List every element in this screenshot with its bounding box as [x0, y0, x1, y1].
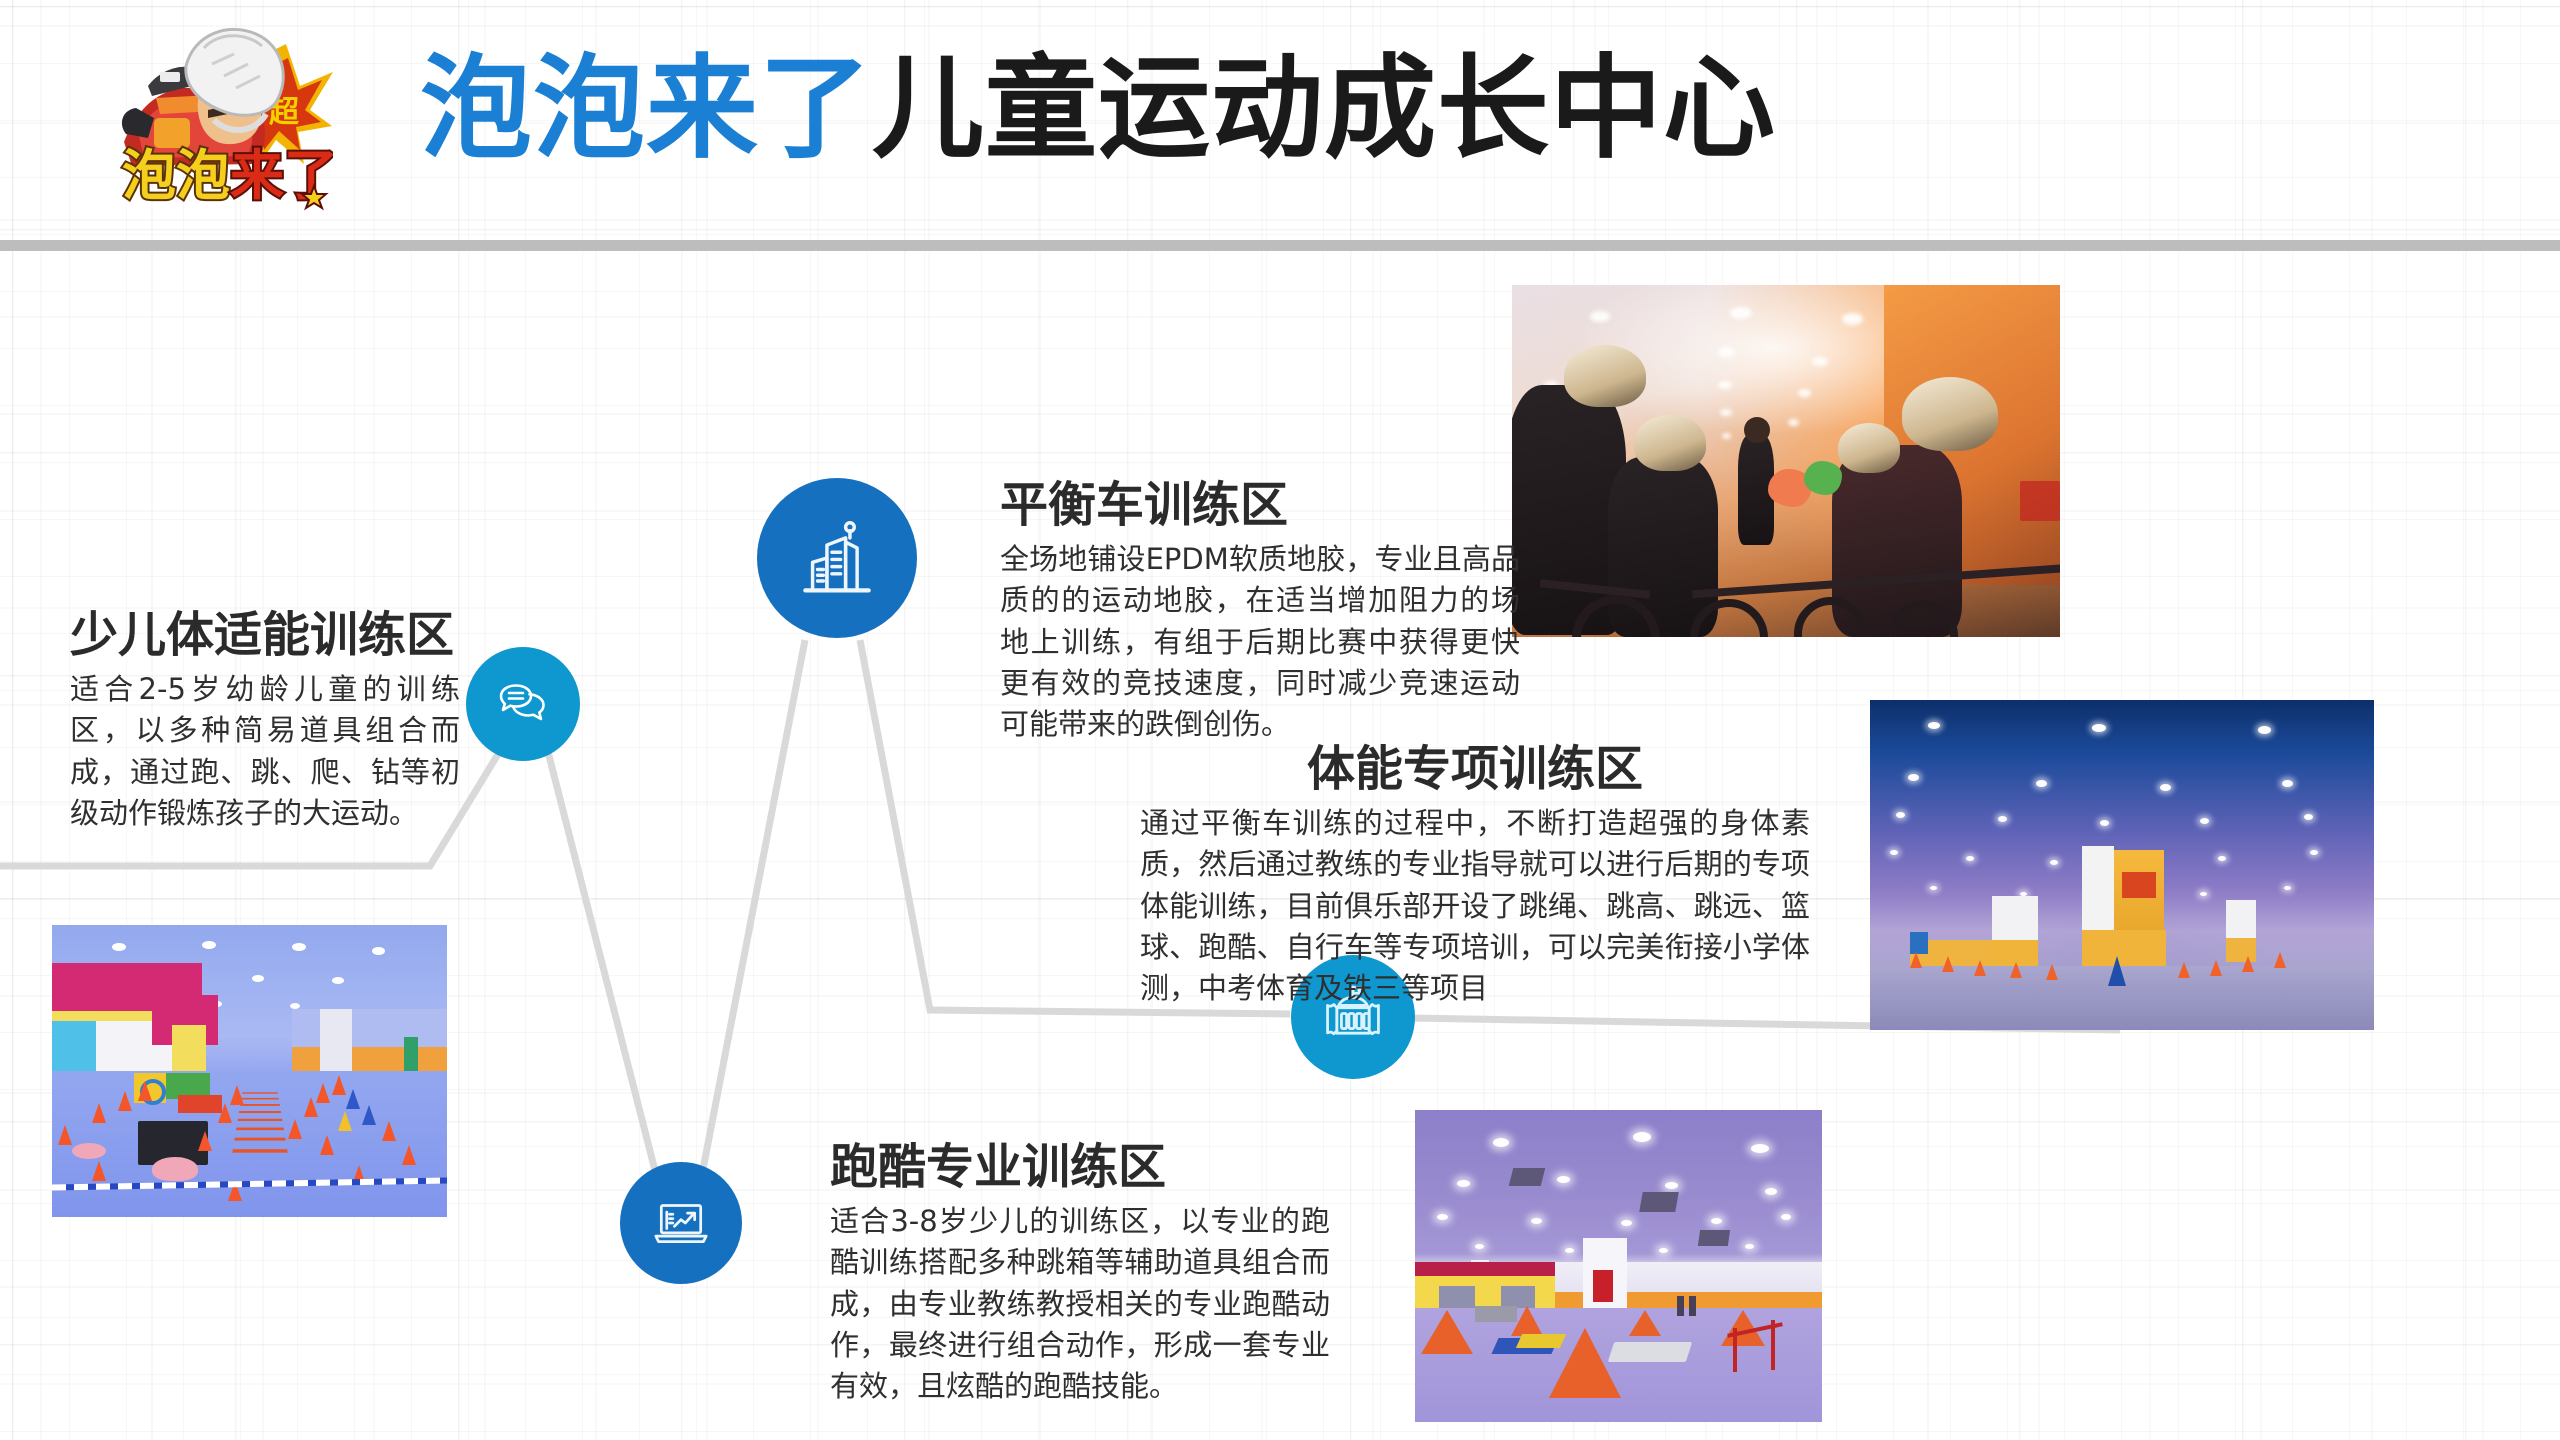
section-title-fitness: 体能专项训练区	[1140, 742, 1810, 797]
laptop-chart-node[interactable]	[620, 1162, 742, 1284]
parkour-hall-photo	[1415, 1110, 1822, 1422]
section-parkour: 跑酷专业训练区 适合3-8岁少儿的训练区，以专业的跑酷训练搭配多种跳箱等辅助道具…	[830, 1140, 1330, 1407]
section-body-fitness: 通过平衡车训练的过程中，不断打造超强的身体素质，然后通过教练的专业指导就可以进行…	[1140, 803, 1810, 1009]
office-building-icon	[791, 512, 883, 604]
svg-text:泡泡: 泡泡	[122, 144, 230, 207]
section-kids-fitness: 少儿体适能训练区 适合2-5岁幼龄儿童的训练区，以多种简易道具组合而成，通过跑、…	[70, 608, 460, 834]
page-title-rest: 儿童运动成长中心	[872, 44, 1776, 174]
balance-bike-class-photo	[1512, 285, 2060, 637]
page-header: 超 泡泡 来了	[0, 0, 2560, 240]
section-title-balance: 平衡车训练区	[1000, 478, 1520, 533]
section-body-kids: 适合2-5岁幼龄儿童的训练区，以多种简易道具组合而成，通过跑、跳、爬、钻等初级动…	[70, 669, 460, 834]
office-building-node[interactable]	[757, 478, 917, 638]
page-title: 泡泡来了儿童运动成长中心	[420, 48, 1776, 171]
pobble-cycling-logo: 超 泡泡 来了	[108, 14, 333, 214]
header-divider	[0, 240, 2560, 251]
kids-gym-cones-photo	[52, 925, 447, 1217]
section-body-parkour: 适合3-8岁少儿的训练区，以专业的跑酷训练搭配多种跳箱等辅助道具组合而成，由专业…	[830, 1201, 1330, 1407]
laptop-chart-icon	[646, 1188, 716, 1258]
section-balance-bike: 平衡车训练区 全场地铺设EPDM软质地胶，专业且高品质的的运动地胶，在适当增加阻…	[1000, 478, 1520, 745]
section-title-kids: 少儿体适能训练区	[70, 608, 460, 663]
chat-bubbles-icon	[491, 672, 555, 736]
section-physical-specialty: 体能专项训练区 通过平衡车训练的过程中，不断打造超强的身体素质，然后通过教练的专…	[1140, 742, 1810, 1009]
section-title-parkour: 跑酷专业训练区	[830, 1140, 1330, 1195]
indoor-arena-photo	[1870, 700, 2374, 1030]
section-body-balance: 全场地铺设EPDM软质地胶，专业且高品质的的运动地胶，在适当增加阻力的场地上训练…	[1000, 539, 1520, 745]
chat-bubbles-node[interactable]	[466, 647, 580, 761]
page-title-highlight: 泡泡来了	[420, 44, 872, 174]
